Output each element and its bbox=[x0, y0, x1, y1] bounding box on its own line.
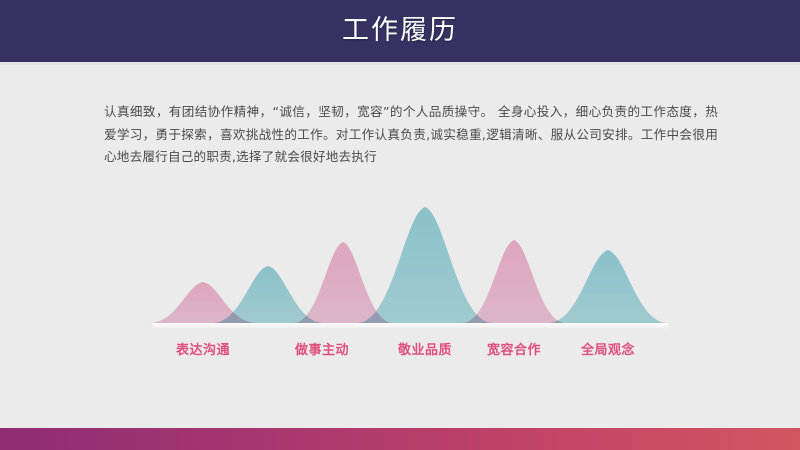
chart-peaks-group bbox=[149, 207, 668, 323]
chart-label: 全局观念 bbox=[548, 341, 668, 361]
chart-peak bbox=[357, 207, 493, 323]
chart-label: 做事主动 bbox=[262, 341, 382, 361]
skill-peaks-chart bbox=[0, 190, 800, 330]
page-title: 工作履历 bbox=[0, 12, 800, 50]
body-paragraph: 认真细致，有团结协作精神，“诚信，坚韧，宽容”的个人品质操守。 全身心投入，细心… bbox=[104, 101, 718, 169]
chart-label: 表达沟通 bbox=[143, 341, 263, 361]
footer-gradient-bar bbox=[0, 428, 800, 450]
chart-svg bbox=[0, 190, 800, 330]
slide-canvas: 工作履历 认真细致，有团结协作精神，“诚信，坚韧，宽容”的个人品质操守。 全身心… bbox=[0, 0, 800, 450]
chart-peak bbox=[462, 240, 566, 323]
header-bar: 工作履历 bbox=[0, 0, 800, 62]
chart-label-row: 表达沟通做事主动敬业品质宽容合作全局观念 bbox=[160, 341, 660, 363]
header-underline bbox=[0, 62, 800, 65]
chart-peak bbox=[548, 250, 668, 323]
chart-baseline-glow bbox=[152, 323, 668, 330]
